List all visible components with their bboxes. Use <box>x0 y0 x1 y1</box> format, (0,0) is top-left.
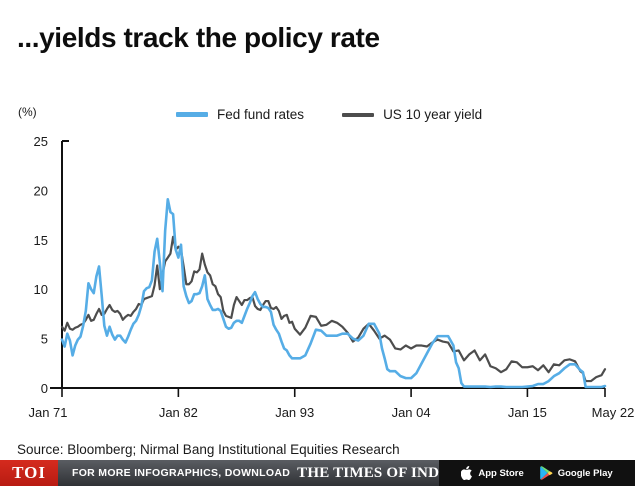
y-tick-label: 5 <box>41 332 48 347</box>
chart-plot-area: 0510152025Jan 71Jan 82Jan 93Jan 04Jan 15… <box>0 0 635 440</box>
google-play-label: Google Play <box>558 468 613 479</box>
x-tick-label: Jan 93 <box>275 405 314 420</box>
app-store-label: App Store <box>478 468 523 479</box>
line-chart: 0510152025Jan 71Jan 82Jan 93Jan 04Jan 15… <box>0 0 635 440</box>
google-play-icon <box>540 466 553 480</box>
source-note: Source: Bloomberg; Nirmal Bang Instituti… <box>17 442 400 457</box>
footer-promo-text: FOR MORE INFOGRAPHICS, DOWNLOAD <box>72 467 290 479</box>
y-tick-label: 15 <box>34 233 48 248</box>
store-badges: App Store Google Play <box>439 460 635 486</box>
series-line-fed-fund-rates <box>62 199 605 387</box>
y-tick-label: 25 <box>34 134 48 149</box>
y-tick-label: 10 <box>34 282 48 297</box>
y-tick-label: 20 <box>34 183 48 198</box>
toi-logo[interactable]: TOI <box>0 460 58 486</box>
apple-icon <box>461 466 473 480</box>
toi-footer-bar: TOI FOR MORE INFOGRAPHICS, DOWNLOAD THE … <box>0 460 635 486</box>
x-tick-label: Jan 04 <box>392 405 431 420</box>
infographic-page: ...yields track the policy rate (%) Fed … <box>0 0 635 486</box>
series-line-us-10-year-yield <box>62 237 605 381</box>
footer-promo: FOR MORE INFOGRAPHICS, DOWNLOAD THE TIME… <box>58 460 439 486</box>
y-tick-label: 0 <box>41 381 48 396</box>
app-store-badge[interactable]: App Store <box>461 466 523 480</box>
x-tick-label: Jan 82 <box>159 405 198 420</box>
x-tick-label: May 22 <box>592 405 635 420</box>
footer-brand-name: THE TIMES OF INDIA <box>297 465 439 482</box>
x-tick-label: Jan 71 <box>28 405 67 420</box>
google-play-badge[interactable]: Google Play <box>540 466 613 480</box>
x-tick-label: Jan 15 <box>508 405 547 420</box>
